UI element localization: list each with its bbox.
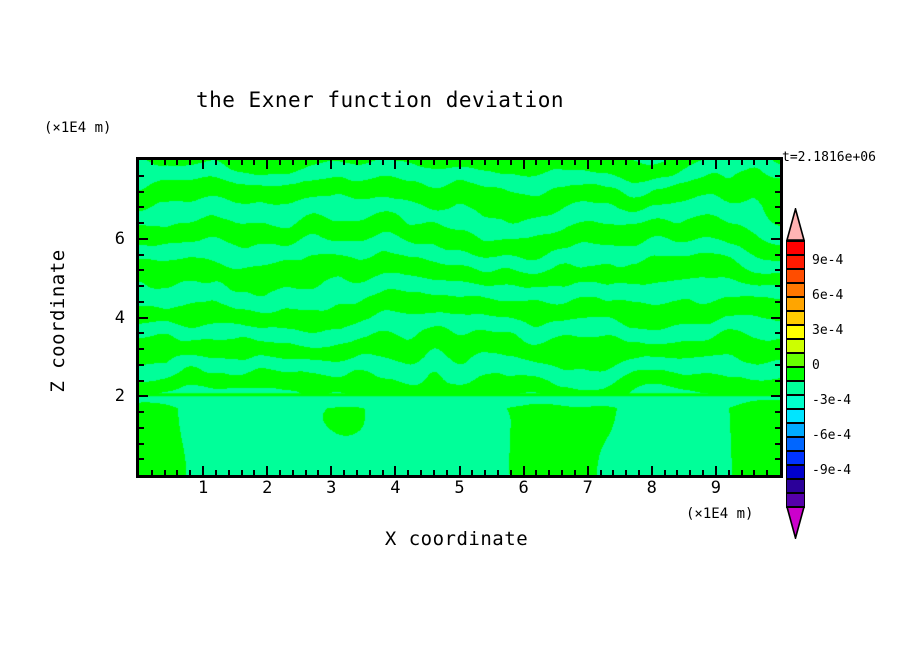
x-tick-minor-top bbox=[407, 160, 409, 165]
x-tick-minor bbox=[176, 470, 178, 475]
x-tick-major bbox=[651, 466, 653, 475]
colorbar-top-arrow-icon bbox=[786, 208, 805, 241]
colorbar-band-divider bbox=[786, 366, 805, 368]
x-tick-minor-top bbox=[356, 160, 358, 165]
colorbar-tick-label: 9e-4 bbox=[812, 253, 843, 268]
x-tick-minor bbox=[484, 470, 486, 475]
x-tick-minor bbox=[433, 470, 435, 475]
y-tick-minor bbox=[139, 206, 144, 208]
x-tick-major-top bbox=[651, 160, 653, 169]
x-tick-minor bbox=[189, 470, 191, 475]
x-tick-minor bbox=[766, 470, 768, 475]
x-tick-minor-top bbox=[369, 160, 371, 165]
x-tick-label: 4 bbox=[380, 478, 410, 498]
x-tick-minor bbox=[407, 470, 409, 475]
colorbar-band-divider bbox=[786, 254, 805, 256]
x-tick-major-top bbox=[202, 160, 204, 169]
x-tick-minor bbox=[317, 470, 319, 475]
x-tick-minor-top bbox=[215, 160, 217, 165]
x-tick-minor-top bbox=[766, 160, 768, 165]
x-tick-minor-top bbox=[241, 160, 243, 165]
colorbar-band-divider bbox=[786, 408, 805, 410]
x-tick-minor-top bbox=[561, 160, 563, 165]
x-tick-minor bbox=[676, 470, 678, 475]
x-tick-minor-top bbox=[279, 160, 281, 165]
colorbar-band bbox=[786, 366, 805, 380]
x-tick-minor-top bbox=[253, 160, 255, 165]
colorbar-band bbox=[786, 282, 805, 296]
x-tick-minor-top bbox=[600, 160, 602, 165]
y-tick-minor bbox=[139, 348, 144, 350]
x-tick-major bbox=[202, 466, 204, 475]
x-tick-minor bbox=[305, 470, 307, 475]
colorbar-band-divider bbox=[786, 324, 805, 326]
colorbar-band bbox=[786, 338, 805, 352]
colorbar-band bbox=[786, 296, 805, 310]
x-tick-minor-top bbox=[471, 160, 473, 165]
x-tick-minor-top bbox=[164, 160, 166, 165]
colorbar-band bbox=[786, 240, 805, 254]
x-tick-minor-top bbox=[676, 160, 678, 165]
colorbar-tick-label: -3e-4 bbox=[812, 393, 851, 408]
x-tick-label: 6 bbox=[509, 478, 539, 498]
x-tick-minor-top bbox=[433, 160, 435, 165]
colorbar-band-divider bbox=[786, 394, 805, 396]
x-tick-major bbox=[394, 466, 396, 475]
x-tick-minor bbox=[241, 470, 243, 475]
colorbar-bands bbox=[786, 240, 805, 506]
colorbar-band-divider bbox=[786, 282, 805, 284]
x-tick-minor-top bbox=[420, 160, 422, 165]
colorbar-band-divider bbox=[786, 240, 805, 242]
x-tick-label: 2 bbox=[252, 478, 282, 498]
x-tick-minor bbox=[574, 470, 576, 475]
x-tick-minor bbox=[728, 470, 730, 475]
x-tick-minor-top bbox=[446, 160, 448, 165]
x-tick-minor-top bbox=[176, 160, 178, 165]
x-tick-major bbox=[330, 466, 332, 475]
x-tick-minor-top bbox=[228, 160, 230, 165]
x-tick-minor bbox=[535, 470, 537, 475]
x-tick-minor-top bbox=[292, 160, 294, 165]
x-tick-minor-top bbox=[548, 160, 550, 165]
y-tick-minor bbox=[139, 254, 144, 256]
colorbar-band-divider bbox=[786, 338, 805, 340]
y-tick-label: 4 bbox=[95, 308, 125, 328]
colorbar-band bbox=[786, 268, 805, 282]
x-tick-minor bbox=[420, 470, 422, 475]
colorbar-band bbox=[786, 422, 805, 436]
colorbar-band-divider bbox=[786, 492, 805, 494]
x-tick-minor-top bbox=[189, 160, 191, 165]
x-axis-title: X coordinate bbox=[136, 528, 777, 550]
x-tick-minor-top bbox=[535, 160, 537, 165]
x-tick-minor-top bbox=[484, 160, 486, 165]
x-tick-label: 1 bbox=[188, 478, 218, 498]
x-tick-major-top bbox=[715, 160, 717, 169]
x-tick-minor bbox=[356, 470, 358, 475]
x-tick-minor bbox=[561, 470, 563, 475]
colorbar-band-divider bbox=[786, 506, 805, 508]
x-tick-label: 7 bbox=[573, 478, 603, 498]
x-tick-minor-top bbox=[664, 160, 666, 165]
colorbar-tick-label: -9e-4 bbox=[812, 463, 851, 478]
y-tick-minor-right bbox=[775, 191, 780, 193]
colorbar-tick-label: 0 bbox=[812, 358, 820, 373]
x-tick-minor bbox=[689, 470, 691, 475]
x-tick-major-top bbox=[266, 160, 268, 169]
colorbar-band-divider bbox=[786, 436, 805, 438]
x-tick-major bbox=[266, 466, 268, 475]
y-tick-minor bbox=[139, 301, 144, 303]
x-tick-minor-top bbox=[638, 160, 640, 165]
x-tick-minor-top bbox=[317, 160, 319, 165]
x-tick-minor bbox=[369, 470, 371, 475]
x-tick-minor bbox=[228, 470, 230, 475]
y-tick-label: 2 bbox=[95, 386, 125, 406]
colorbar-band-divider bbox=[786, 268, 805, 270]
contour-field bbox=[139, 160, 780, 475]
y-tick-minor bbox=[139, 364, 144, 366]
x-tick-minor-top bbox=[497, 160, 499, 165]
x-tick-minor bbox=[753, 470, 755, 475]
colorbar-band-divider bbox=[786, 296, 805, 298]
colorbar: 9e-46e-43e-40-3e-4-6e-4-9e-4 bbox=[780, 200, 900, 510]
y-tick-minor bbox=[139, 427, 144, 429]
x-tick-minor-top bbox=[612, 160, 614, 165]
colorbar-band bbox=[786, 310, 805, 324]
colorbar-band bbox=[786, 478, 805, 492]
colorbar-band bbox=[786, 352, 805, 366]
x-tick-minor-top bbox=[510, 160, 512, 165]
y-tick-major-right bbox=[771, 317, 780, 319]
x-tick-minor-top bbox=[689, 160, 691, 165]
x-tick-minor bbox=[702, 470, 704, 475]
x-tick-minor bbox=[292, 470, 294, 475]
y-tick-minor-right bbox=[775, 175, 780, 177]
colorbar-band-divider bbox=[786, 422, 805, 424]
x-tick-minor-top bbox=[702, 160, 704, 165]
y-tick-major-right bbox=[771, 395, 780, 397]
colorbar-band bbox=[786, 394, 805, 408]
x-tick-minor bbox=[382, 470, 384, 475]
y-tick-major bbox=[139, 395, 148, 397]
colorbar-band-divider bbox=[786, 380, 805, 382]
colorbar-band-divider bbox=[786, 352, 805, 354]
y-tick-major-right bbox=[771, 238, 780, 240]
timestamp-label: t=2.1816e+06 bbox=[782, 150, 876, 165]
y-tick-major bbox=[139, 238, 148, 240]
x-tick-minor bbox=[612, 470, 614, 475]
x-tick-major bbox=[587, 466, 589, 475]
y-tick-label: 6 bbox=[95, 229, 125, 249]
page-title: the Exner function deviation bbox=[0, 88, 760, 112]
x-tick-major bbox=[715, 466, 717, 475]
x-tick-major bbox=[459, 466, 461, 475]
y-tick-minor bbox=[139, 458, 144, 460]
colorbar-tick-label: 3e-4 bbox=[812, 323, 843, 338]
colorbar-tick-label: 6e-4 bbox=[812, 288, 843, 303]
colorbar-band-divider bbox=[786, 450, 805, 452]
contour-plot-area bbox=[136, 157, 783, 478]
x-tick-minor-top bbox=[343, 160, 345, 165]
x-tick-minor bbox=[600, 470, 602, 475]
x-tick-minor bbox=[164, 470, 166, 475]
colorbar-band-divider bbox=[786, 310, 805, 312]
y-tick-minor bbox=[139, 411, 144, 413]
x-tick-minor-top bbox=[151, 160, 153, 165]
colorbar-band-divider bbox=[786, 464, 805, 466]
x-tick-major bbox=[523, 466, 525, 475]
colorbar-band bbox=[786, 436, 805, 450]
x-tick-minor bbox=[471, 470, 473, 475]
x-axis-units-label: (×1E4 m) bbox=[686, 506, 753, 522]
colorbar-band bbox=[786, 408, 805, 422]
y-tick-minor bbox=[139, 175, 144, 177]
y-tick-minor bbox=[139, 332, 144, 334]
x-tick-minor-top bbox=[382, 160, 384, 165]
colorbar-bottom-arrow-icon bbox=[786, 506, 805, 539]
x-tick-minor bbox=[548, 470, 550, 475]
y-tick-major bbox=[139, 317, 148, 319]
y-axis-units-label: (×1E4 m) bbox=[44, 120, 111, 136]
y-tick-minor bbox=[139, 269, 144, 271]
x-tick-minor bbox=[279, 470, 281, 475]
colorbar-band bbox=[786, 492, 805, 506]
colorbar-band bbox=[786, 464, 805, 478]
x-tick-major-top bbox=[523, 160, 525, 169]
x-tick-minor bbox=[253, 470, 255, 475]
x-tick-major-top bbox=[330, 160, 332, 169]
colorbar-band bbox=[786, 380, 805, 394]
y-tick-minor bbox=[139, 443, 144, 445]
x-tick-minor-top bbox=[728, 160, 730, 165]
y-tick-minor bbox=[139, 285, 144, 287]
x-tick-minor bbox=[151, 470, 153, 475]
x-tick-minor-top bbox=[305, 160, 307, 165]
colorbar-tick-label: -6e-4 bbox=[812, 428, 851, 443]
x-tick-major-top bbox=[394, 160, 396, 169]
x-tick-minor bbox=[741, 470, 743, 475]
x-tick-minor-top bbox=[625, 160, 627, 165]
x-tick-minor bbox=[625, 470, 627, 475]
x-tick-minor-top bbox=[753, 160, 755, 165]
y-tick-minor bbox=[139, 380, 144, 382]
colorbar-band bbox=[786, 254, 805, 268]
x-tick-minor bbox=[664, 470, 666, 475]
x-tick-minor bbox=[510, 470, 512, 475]
x-tick-minor bbox=[446, 470, 448, 475]
colorbar-band bbox=[786, 450, 805, 464]
x-tick-label: 8 bbox=[637, 478, 667, 498]
x-tick-label: 9 bbox=[701, 478, 731, 498]
x-tick-major-top bbox=[459, 160, 461, 169]
x-tick-minor-top bbox=[574, 160, 576, 165]
x-tick-minor bbox=[638, 470, 640, 475]
x-tick-minor bbox=[497, 470, 499, 475]
colorbar-band bbox=[786, 324, 805, 338]
y-axis-title: Z coordinate bbox=[47, 221, 69, 421]
x-tick-minor bbox=[215, 470, 217, 475]
x-tick-label: 3 bbox=[316, 478, 346, 498]
x-tick-minor bbox=[343, 470, 345, 475]
x-tick-label: 5 bbox=[445, 478, 475, 498]
y-tick-minor bbox=[139, 191, 144, 193]
x-tick-major-top bbox=[587, 160, 589, 169]
x-tick-minor-top bbox=[741, 160, 743, 165]
y-tick-minor bbox=[139, 222, 144, 224]
colorbar-band-divider bbox=[786, 478, 805, 480]
